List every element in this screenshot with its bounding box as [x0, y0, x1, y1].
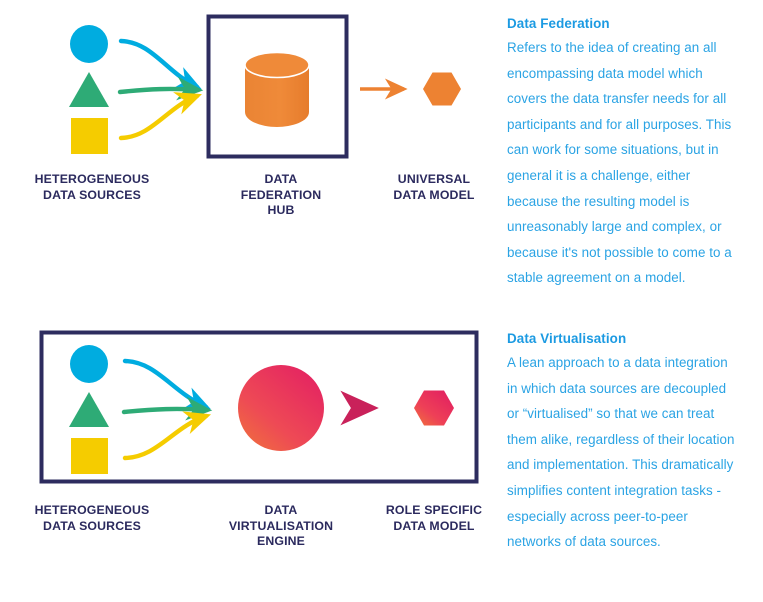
description-data-federation: Data Federation Refers to the idea of cr…: [507, 14, 739, 291]
source-arrow-green: [124, 409, 207, 412]
virtualisation-engine-sphere: [238, 365, 324, 451]
caption-heterogeneous-data-sources-federation: HETEROGENEOUS DATA SOURCES: [8, 172, 176, 203]
infographic-stage: HETEROGENEOUS DATA SOURCES DATA FEDERATI…: [0, 0, 763, 602]
caption-universal-data-model: UNIVERSAL DATA MODEL: [366, 172, 502, 203]
virtualisation-diagram-graphics: [0, 310, 495, 602]
caption-data-federation-hub: DATA FEDERATION HUB: [216, 172, 346, 219]
source-triangle-shape: [69, 392, 109, 427]
federation-diagram-graphics: [0, 0, 495, 310]
caption-heterogeneous-data-sources-virtualisation: HETEROGENEOUS DATA SOURCES: [8, 503, 176, 534]
source-circle-shape: [70, 25, 108, 63]
data-virtualisation-diagram: [0, 310, 495, 602]
source-arrow-yellow: [121, 96, 197, 138]
universal-data-model-hexagon: [423, 73, 461, 106]
description-title-data-federation: Data Federation: [507, 14, 739, 34]
description-body-data-virtualisation: A lean approach to a data integration in…: [507, 350, 739, 555]
source-arrow-green: [120, 89, 198, 92]
source-arrow-cyan: [125, 361, 206, 407]
source-arrow-yellow: [125, 416, 206, 458]
source-square-shape: [71, 118, 108, 154]
caption-data-virtualisation-engine: DATA VIRTUALISATION ENGINE: [216, 503, 346, 550]
source-arrow-cyan: [121, 41, 197, 87]
description-title-data-virtualisation: Data Virtualisation: [507, 329, 739, 349]
source-square-shape: [71, 438, 108, 474]
source-triangle-shape: [69, 72, 109, 107]
federation-hub-cylinder-icon: [245, 53, 309, 128]
description-data-virtualisation: Data Virtualisation A lean approach to a…: [507, 329, 739, 555]
role-specific-data-model-hexagon: [414, 391, 454, 426]
description-body-data-federation: Refers to the idea of creating an all en…: [507, 35, 739, 291]
source-circle-shape: [70, 345, 108, 383]
data-federation-diagram: [0, 0, 495, 310]
caption-role-specific-data-model: ROLE SPECIFIC DATA MODEL: [366, 503, 502, 534]
